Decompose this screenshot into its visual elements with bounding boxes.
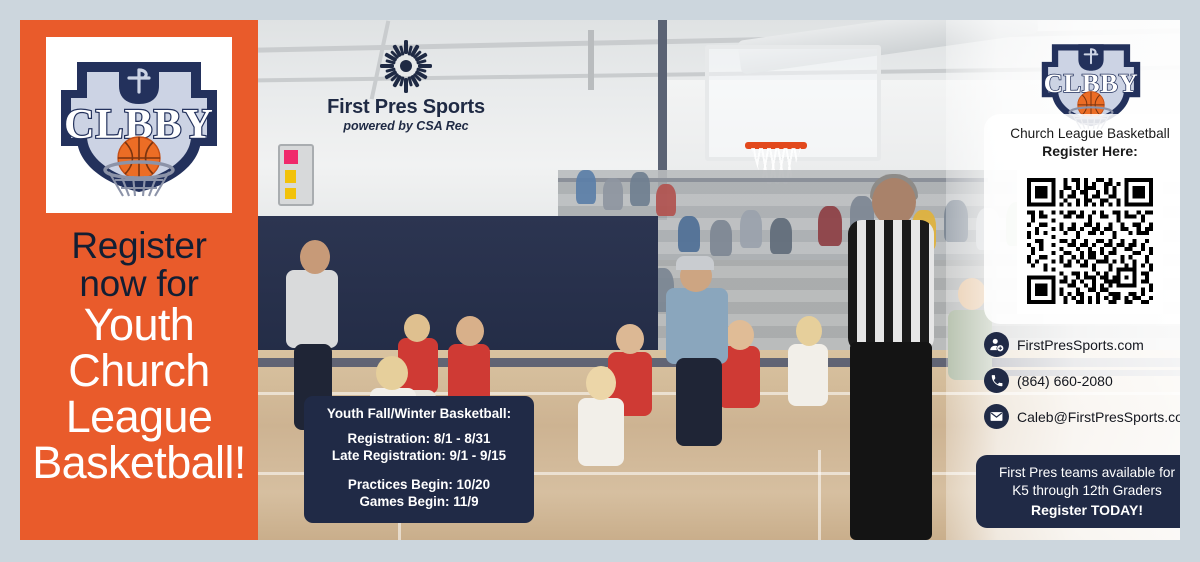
register-card-line-1: Church League Basketball	[992, 126, 1180, 143]
photo-coach	[676, 358, 722, 446]
photo-spectator	[710, 220, 732, 256]
photo-spectator	[576, 170, 596, 204]
photo-player	[586, 366, 616, 400]
contact-phone-text: (864) 660-2080	[1017, 373, 1113, 389]
sunburst-icon	[378, 40, 434, 94]
photo-player	[796, 316, 822, 346]
contact-row-email[interactable]: Caleb@FirstPresSports.com	[984, 404, 1180, 429]
qr-code-icon[interactable]	[1023, 174, 1157, 308]
photo-scoreboard-digit	[285, 188, 296, 199]
photo-spectator	[603, 178, 623, 210]
contact-list: FirstPresSports.com (864) 660-2080	[984, 332, 1180, 440]
photo-rim	[745, 142, 807, 149]
photo-coach	[286, 270, 338, 348]
photo-player	[456, 316, 484, 346]
contact-row-phone[interactable]: (864) 660-2080	[984, 368, 1180, 393]
headline-line-3: Youth	[26, 302, 252, 348]
contact-website-text: FirstPresSports.com	[1017, 337, 1144, 353]
left-orange-panel: CLBBY	[20, 20, 258, 540]
availability-cta: Register TODAY!	[984, 502, 1180, 518]
photo-coach	[300, 240, 330, 274]
person-add-icon	[984, 332, 1009, 357]
first-pres-sports-logo: First Pres Sports powered by CSA Rec	[306, 40, 506, 133]
photo-cap	[676, 256, 714, 270]
register-card-line-2: Register Here:	[992, 143, 1180, 161]
photo-spectator	[678, 216, 700, 252]
schedule-registration: Registration: 8/1 - 8/31	[314, 430, 524, 447]
photo-player	[616, 324, 644, 354]
headline-line-6: Basketball!	[26, 440, 252, 486]
poster-content: CLBBY	[20, 20, 1180, 540]
photo-player	[726, 320, 754, 350]
schedule-late-registration: Late Registration: 9/1 - 9/15	[314, 447, 524, 464]
availability-line-1: First Pres teams available for	[984, 464, 1180, 482]
photo-spectator	[740, 210, 762, 248]
headline-line-4: Church	[26, 348, 252, 394]
contact-row-website[interactable]: FirstPresSports.com	[984, 332, 1180, 357]
qr-code-wrapper[interactable]	[1017, 168, 1163, 314]
photo-coach	[666, 288, 728, 364]
photo-beam	[588, 30, 594, 90]
headline-line-5: League	[26, 394, 252, 440]
gym-photo: First Pres Sports powered by CSA Rec You…	[258, 20, 1180, 540]
clbby-logo-icon: CLBBY	[55, 46, 223, 204]
headline-line-2: now for	[26, 265, 252, 303]
photo-court-line	[818, 450, 821, 540]
photo-referee	[850, 342, 932, 540]
envelope-icon	[984, 404, 1009, 429]
poster-canvas: CLBBY	[0, 0, 1200, 562]
photo-scoreboard-digit	[285, 170, 296, 183]
photo-spectator	[818, 206, 842, 246]
register-card: Church League Basketball Register Here:	[984, 114, 1180, 324]
schedule-spacer	[314, 464, 524, 476]
clbby-logo-card: CLBBY	[46, 37, 232, 213]
photo-referee	[872, 178, 916, 226]
schedule-title: Youth Fall/Winter Basketball:	[314, 406, 524, 421]
photo-railing	[558, 178, 988, 182]
schedule-info-box: Youth Fall/Winter Basketball: Registrati…	[304, 396, 534, 523]
photo-spectator	[656, 184, 676, 216]
photo-player	[376, 356, 408, 390]
photo-player	[788, 344, 828, 406]
photo-scoreboard-digit	[284, 150, 298, 164]
first-pres-sports-tagline: powered by CSA Rec	[306, 119, 506, 133]
schedule-practices: Practices Begin: 10/20	[314, 476, 524, 493]
photo-spectator	[630, 172, 650, 206]
headline-line-1: Register	[26, 227, 252, 265]
schedule-games: Games Begin: 11/9	[314, 493, 524, 510]
photo-referee	[848, 220, 934, 352]
first-pres-sports-name: First Pres Sports	[306, 96, 506, 118]
contact-email-text: Caleb@FirstPresSports.com	[1017, 409, 1180, 425]
availability-line-2: K5 through 12th Graders	[984, 482, 1180, 500]
photo-spectator	[770, 218, 792, 254]
photo-player	[404, 314, 430, 342]
headline-block: Register now for Youth Church League Bas…	[26, 227, 252, 486]
photo-player	[578, 398, 624, 466]
availability-box: First Pres teams available for K5 throug…	[976, 455, 1180, 528]
phone-icon	[984, 368, 1009, 393]
